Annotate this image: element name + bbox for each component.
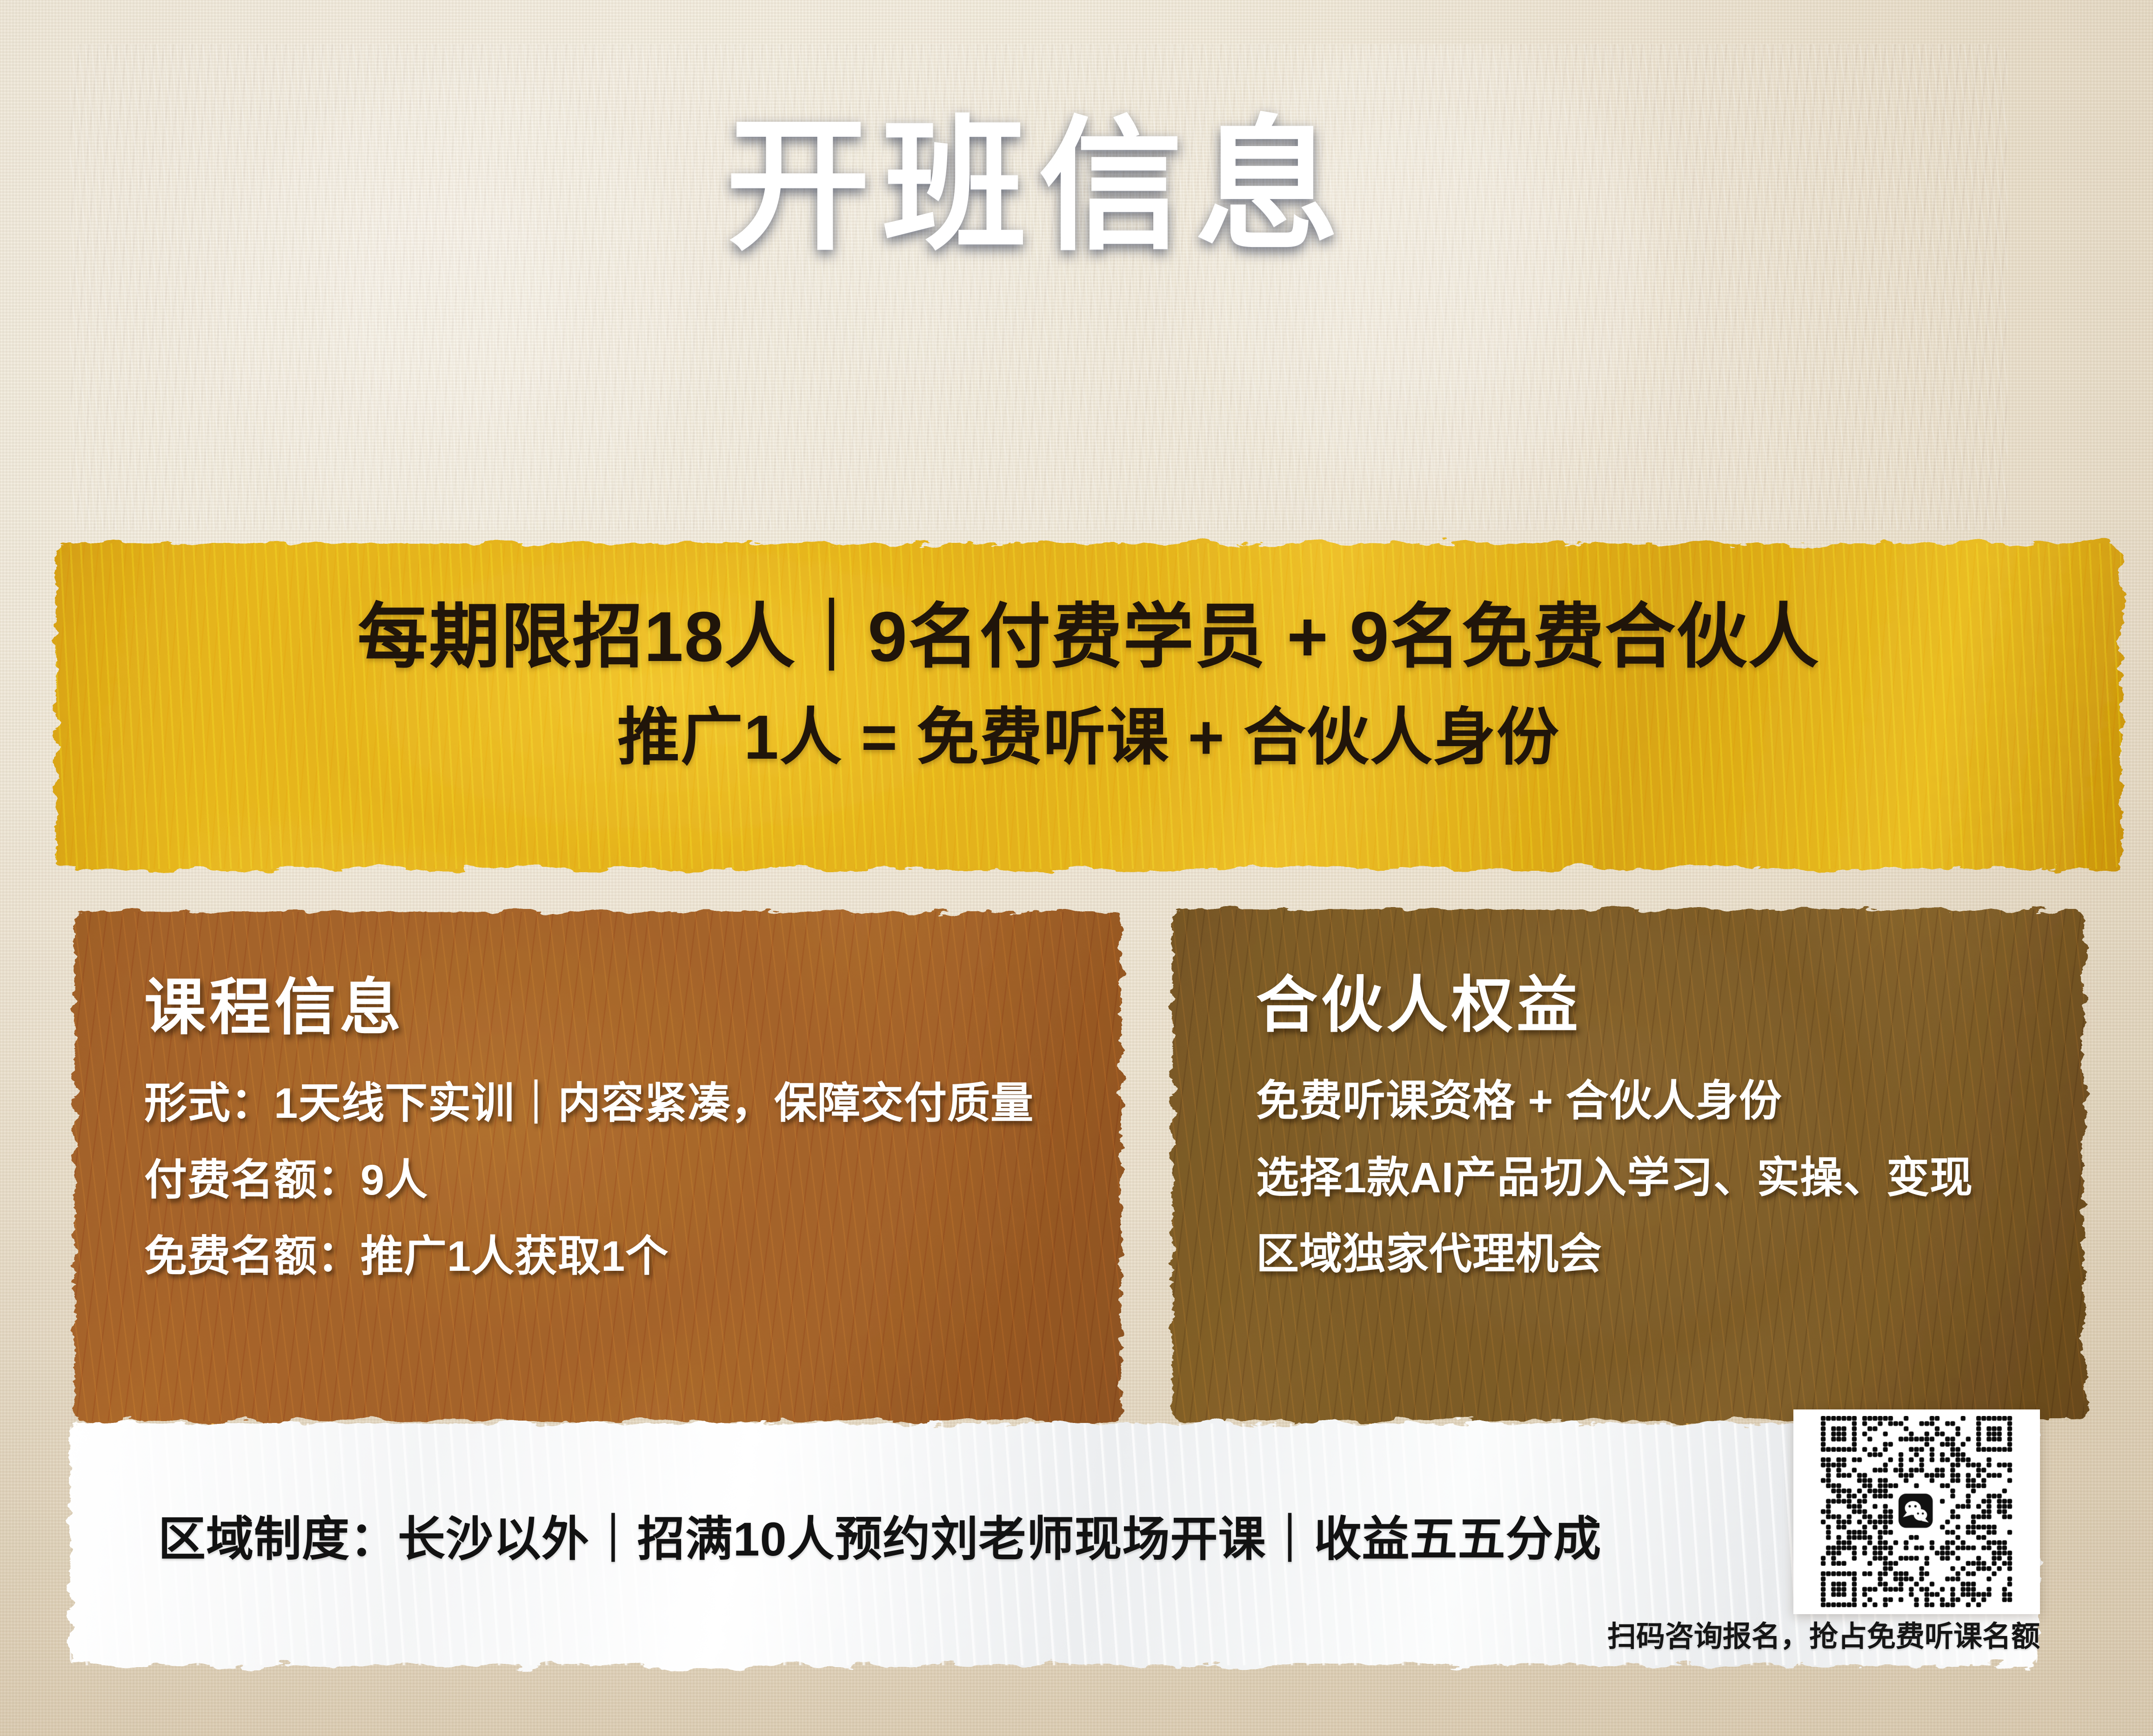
header-banner: 开班信息	[70, 44, 2007, 530]
qr-code-card[interactable]	[1793, 1409, 2040, 1614]
partner-card-title: 合伙人权益	[1256, 975, 2033, 1036]
partner-benefit-agency: 区域独家代理机会	[1256, 1229, 2033, 1280]
page-title: 开班信息	[70, 114, 2007, 258]
referral-reward-line: 推广1人 = 免费听课 + 合伙人身份	[56, 701, 2121, 775]
highlight-banner-text: 每期限招18人｜9名付费学员 + 9名免费合伙人 推广1人 = 免费听课 + 合…	[56, 595, 2121, 775]
course-paid-seats-line: 付费名额：9人	[144, 1155, 1070, 1206]
partner-card-content: 合伙人权益 免费听课资格 + 合伙人身份 选择1款AI产品切入学习、实操、变现 …	[1172, 909, 2084, 1421]
qr-caption: 扫码咨询报名，抢占免费听课名额	[1263, 1621, 2040, 1653]
course-free-seats-line: 免费名额：推广1人获取1个	[144, 1231, 1070, 1282]
highlight-banner: 每期限招18人｜9名付费学员 + 9名免费合伙人 推广1人 = 免费听课 + 合…	[56, 543, 2121, 869]
partner-benefit-ai-product: 选择1款AI产品切入学习、实操、变现	[1256, 1153, 2033, 1203]
qr-code-image[interactable]	[1800, 1416, 2033, 1608]
course-format-line: 形式：1天线下实训｜内容紧凑，保障交付质量	[144, 1078, 1070, 1129]
enrollment-quota-line: 每期限招18人｜9名付费学员 + 9名免费合伙人	[56, 595, 2121, 679]
course-card-content: 课程信息 形式：1天线下实训｜内容紧凑，保障交付质量 付费名额：9人 免费名额：…	[74, 912, 1121, 1421]
partner-benefit-free-access: 免费听课资格 + 合伙人身份	[1256, 1076, 2033, 1127]
partner-benefits-card: 合伙人权益 免费听课资格 + 合伙人身份 选择1款AI产品切入学习、实操、变现 …	[1172, 909, 2084, 1421]
qr-contact-block[interactable]: 扫码咨询报名，抢占免费听课名额	[1793, 1409, 2040, 1707]
course-info-card: 课程信息 形式：1天线下实训｜内容紧凑，保障交付质量 付费名额：9人 免费名额：…	[74, 912, 1121, 1421]
regional-policy-text: 区域制度：长沙以外｜招满10人预约刘老师现场开课｜收益五五分成	[158, 1516, 1601, 1563]
course-card-title: 课程信息	[144, 977, 1070, 1038]
